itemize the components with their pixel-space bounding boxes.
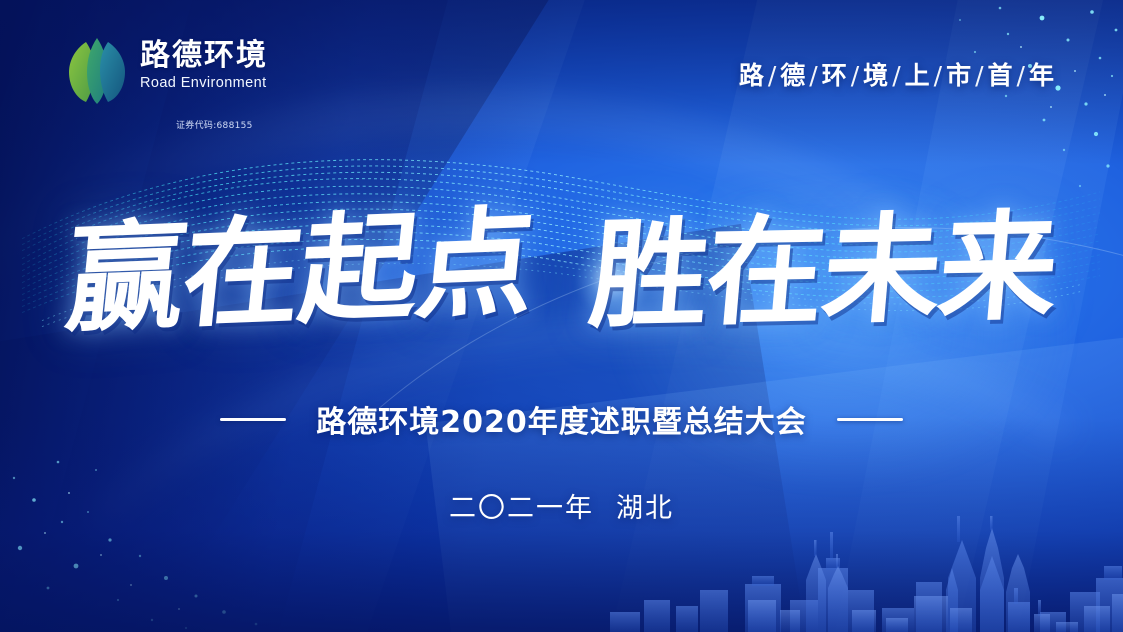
- kicker-sep-6: /: [1014, 61, 1029, 90]
- anniversary-kicker: 路/德/环/境/上/市/首/年: [739, 56, 1055, 92]
- kicker-sep-4: /: [931, 61, 946, 90]
- brand-name-en: Road Environment: [140, 75, 268, 91]
- dateline-location: 湖北: [616, 493, 674, 524]
- road-environment-leaf-mark-icon: [64, 36, 130, 106]
- kicker-sep-0: /: [765, 61, 780, 90]
- kicker-char-0: 路: [739, 61, 765, 90]
- kicker-char-1: 德: [780, 61, 806, 90]
- kicker-char-7: 年: [1029, 61, 1055, 90]
- stock-code-label: 证券代码:688155: [176, 118, 253, 131]
- content-layer: 路德环境 Road Environment 证券代码:688155 路/德/环/…: [0, 0, 1123, 632]
- brand-name-cn: 路德环境: [140, 40, 268, 72]
- subtitle-row: 路德环境2020年度述职暨总结大会: [0, 396, 1123, 442]
- dateline: 二〇二一年湖北: [0, 486, 1123, 525]
- headline-line-2: 胜在未来: [585, 208, 1060, 335]
- poster-canvas: 路德环境 Road Environment 证券代码:688155 路/德/环/…: [0, 0, 1123, 632]
- rule-left: [220, 418, 286, 421]
- subtitle-text: 路德环境2020年度述职暨总结大会: [316, 397, 807, 441]
- rule-right: [837, 418, 903, 421]
- kicker-sep-3: /: [889, 61, 904, 90]
- brand-logo[interactable]: 路德环境 Road Environment: [64, 36, 268, 106]
- kicker-sep-5: /: [972, 61, 987, 90]
- kicker-sep-2: /: [848, 61, 863, 90]
- dateline-year: 二〇二一年: [449, 493, 594, 524]
- headline-slogan: 赢在起点 胜在未来: [0, 196, 1123, 346]
- brand-wordmark: 路德环境 Road Environment: [140, 36, 268, 91]
- kicker-char-4: 上: [905, 61, 931, 90]
- kicker-char-5: 市: [946, 61, 972, 90]
- kicker-sep-1: /: [806, 61, 821, 90]
- kicker-char-6: 首: [988, 61, 1014, 90]
- kicker-char-2: 环: [822, 61, 848, 90]
- kicker-char-3: 境: [863, 61, 889, 90]
- headline-line-1: 赢在起点: [61, 203, 539, 339]
